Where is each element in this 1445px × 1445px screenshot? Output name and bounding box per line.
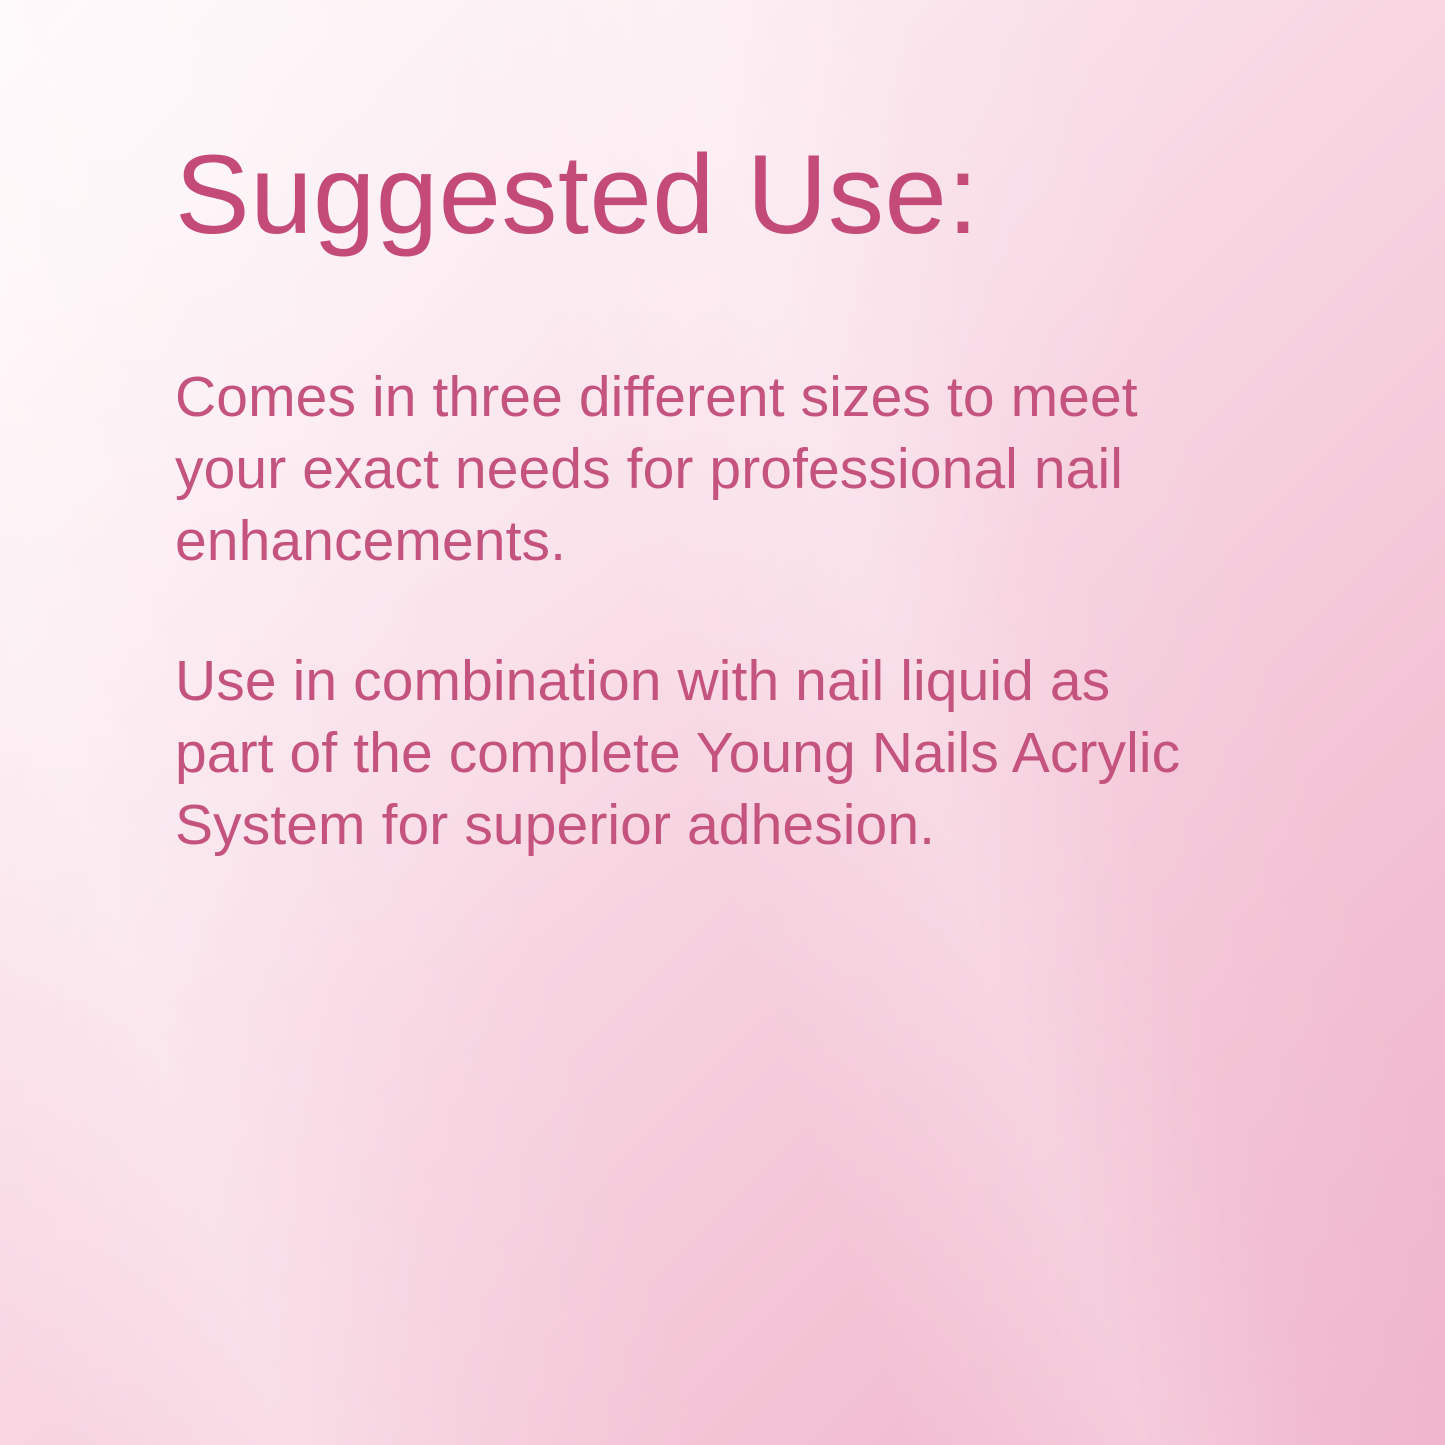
- text-content-block: Suggested Use: Comes in three different …: [175, 132, 1223, 861]
- suggested-use-poster: Suggested Use: Comes in three different …: [0, 0, 1445, 1445]
- suggested-use-paragraph-sizes: Comes in three different sizes to meet y…: [175, 361, 1223, 577]
- page-title: Suggested Use:: [175, 132, 1223, 257]
- suggested-use-paragraph-system: Use in combination with nail liquid as p…: [175, 645, 1223, 861]
